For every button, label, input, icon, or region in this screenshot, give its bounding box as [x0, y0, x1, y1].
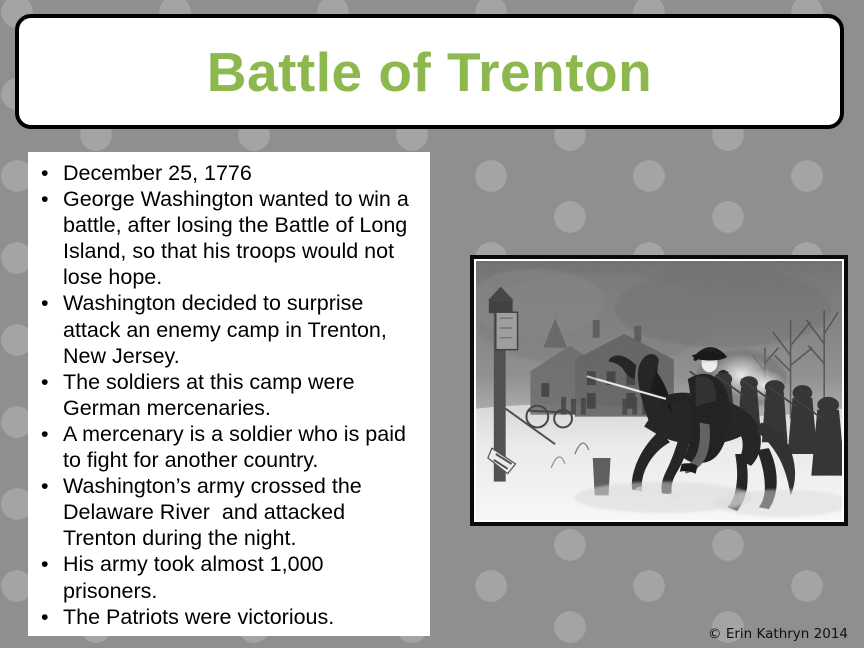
bullet-item: •December 25, 1776 — [38, 160, 420, 186]
slide-canvas: Battle of Trenton •December 25, 1776•Geo… — [0, 0, 864, 648]
bullet-text: Washington’s army crossed the Delaware R… — [63, 473, 420, 551]
title-box: Battle of Trenton — [15, 14, 844, 129]
bullet-text: George Washington wanted to win a battle… — [63, 186, 420, 290]
bullet-marker-icon: • — [41, 186, 49, 212]
engraving-graphic — [476, 261, 842, 520]
bullet-marker-icon: • — [41, 369, 49, 395]
bullet-text: The Patriots were victorious. — [63, 604, 420, 630]
bullet-list: •December 25, 1776•George Washington wan… — [38, 160, 420, 630]
bullet-text: Washington decided to surprise attack an… — [63, 290, 420, 368]
bullet-marker-icon: • — [41, 473, 49, 499]
battle-illustration-frame — [470, 255, 848, 526]
bullet-text: December 25, 1776 — [63, 160, 420, 186]
bullet-item: •The Patriots were victorious. — [38, 604, 420, 630]
bullet-item: •The soldiers at this camp were German m… — [38, 369, 420, 421]
body-text-box: •December 25, 1776•George Washington wan… — [28, 152, 430, 636]
bullet-text: The soldiers at this camp were German me… — [63, 369, 420, 421]
bullet-marker-icon: • — [41, 604, 49, 630]
bullet-marker-icon: • — [41, 290, 49, 316]
bullet-marker-icon: • — [41, 551, 49, 577]
bullet-item: •Washington’s army crossed the Delaware … — [38, 473, 420, 551]
bullet-text: A mercenary is a soldier who is paid to … — [63, 421, 420, 473]
bullet-marker-icon: • — [41, 160, 49, 186]
bullet-item: •George Washington wanted to win a battl… — [38, 186, 420, 290]
battle-illustration-image — [476, 261, 842, 520]
bullet-item: •His army took almost 1,000 prisoners. — [38, 551, 420, 603]
bullet-item: •A mercenary is a soldier who is paid to… — [38, 421, 420, 473]
bullet-text: His army took almost 1,000 prisoners. — [63, 551, 420, 603]
page-title: Battle of Trenton — [207, 42, 652, 102]
bullet-item: •Washington decided to surprise attack a… — [38, 290, 420, 368]
bullet-marker-icon: • — [41, 421, 49, 447]
copyright-notice: © Erin Kathryn 2014 — [708, 625, 848, 643]
